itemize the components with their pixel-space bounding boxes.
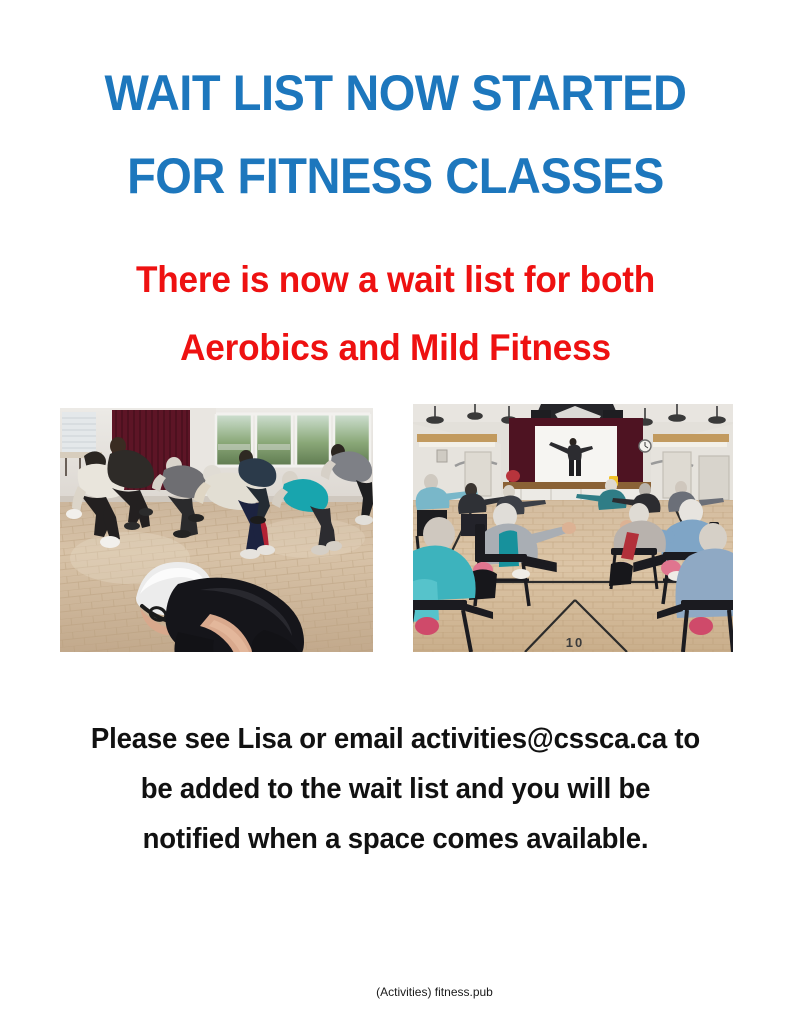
aerobics-class-photo-graphic xyxy=(60,408,373,652)
body-line-3: notified when a space comes available. xyxy=(20,814,771,864)
mild-fitness-class-photo-graphic: 10 xyxy=(413,404,733,652)
subheadline-line-2: Aerobics and Mild Fitness xyxy=(20,314,771,382)
headline-line-2: FOR FITNESS CLASSES xyxy=(24,135,768,218)
footer-filename: (Activities) fitness.pub xyxy=(376,984,493,1000)
flyer-page: WAIT LIST NOW STARTED FOR FITNESS CLASSE… xyxy=(0,0,791,1024)
floor-marking-10: 10 xyxy=(566,635,584,650)
body-line-2: be added to the wait list and you will b… xyxy=(20,764,771,814)
mild-fitness-class-photo: 10 xyxy=(413,404,733,652)
subheadline: There is now a wait list for both Aerobi… xyxy=(0,218,791,382)
headline: WAIT LIST NOW STARTED FOR FITNESS CLASSE… xyxy=(0,0,791,218)
photo-row: 10 xyxy=(0,404,791,652)
body-text: Please see Lisa or email activities@cssc… xyxy=(0,714,791,864)
aerobics-class-photo xyxy=(60,408,373,652)
footer: (Activities) fitness.pub xyxy=(0,983,791,1001)
subheadline-line-1: There is now a wait list for both xyxy=(20,246,771,314)
headline-line-1: WAIT LIST NOW STARTED xyxy=(24,52,768,135)
body-line-1: Please see Lisa or email activities@cssc… xyxy=(20,714,771,764)
